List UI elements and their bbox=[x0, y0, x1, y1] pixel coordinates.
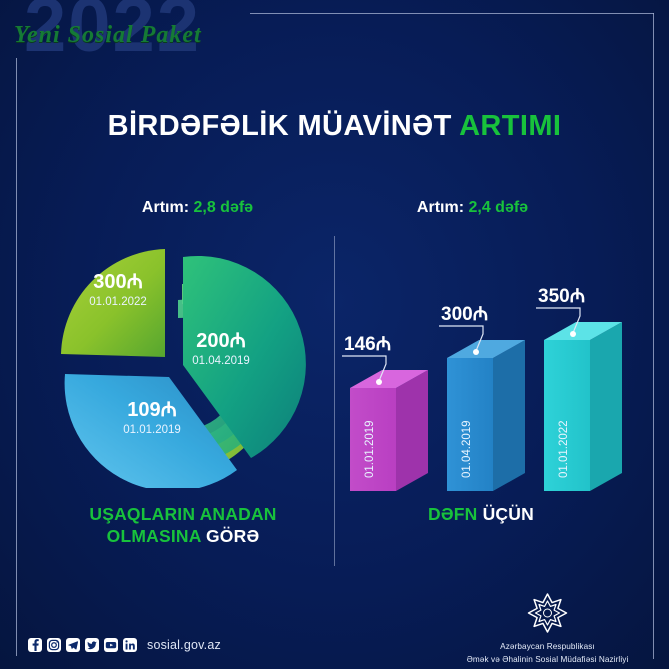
pie-chart-svg: 300₼ 01.01.2022 200₼ 01.04.2019 109₼ 01.… bbox=[32, 238, 332, 488]
bar-146-side bbox=[396, 370, 428, 491]
telegram-icon[interactable] bbox=[66, 638, 80, 652]
website-url[interactable]: sosial.gov.az bbox=[147, 638, 221, 652]
bar-column-300[interactable]: 300₼ 01.04.2019 bbox=[439, 304, 525, 491]
pie-slice-109-value: 109₼ bbox=[127, 399, 177, 421]
right-chart-caption: DƏFN ÜÇÜN bbox=[340, 503, 622, 525]
bar-chart-svg: 146₼ 01.01.2019 300₼ 01.04.2019 35 bbox=[338, 278, 658, 493]
ministry-logo-block: Azərbaycan Respublikası Əmək və Əhalinin… bbox=[455, 592, 640, 665]
growth-label-left: Artım: 2,8 dəfə bbox=[60, 199, 335, 217]
pie-slice-300[interactable]: 300₼ 01.01.2022 bbox=[61, 249, 165, 357]
page-title-accent: ARTIMI bbox=[459, 110, 561, 142]
growth-label-right-text: Artım: bbox=[417, 199, 464, 216]
ministry-star-icon bbox=[455, 592, 640, 634]
bar-350-value: 350₼ bbox=[538, 286, 585, 307]
growth-value-right: 2,4 dəfə bbox=[468, 199, 528, 216]
infographic-canvas: 2022 Yeni Sosial Paket BİRDƏFƏLİK MÜAVİN… bbox=[0, 0, 669, 669]
frame-line-left bbox=[16, 58, 17, 656]
bar-146-value: 146₼ bbox=[344, 334, 391, 355]
right-caption-green: DƏFN bbox=[428, 504, 477, 524]
bar-146-date: 01.01.2019 bbox=[364, 420, 376, 478]
ministry-line-2: Əmək və Əhalinin Sosial Müdafiəsi Nazirl… bbox=[455, 654, 640, 665]
bar-column-146[interactable]: 146₼ 01.01.2019 bbox=[342, 334, 428, 491]
pie-slice-300-value: 300₼ bbox=[93, 271, 143, 293]
right-caption-white: ÜÇÜN bbox=[483, 504, 534, 524]
bar-chart: 146₼ 01.01.2019 300₼ 01.04.2019 35 bbox=[338, 278, 658, 493]
pie-slice-200-value: 200₼ bbox=[196, 330, 246, 352]
growth-label-left-text: Artım: bbox=[142, 199, 189, 216]
ministry-line-1: Azərbaycan Respublikası bbox=[455, 641, 640, 652]
bar-350-side bbox=[590, 322, 622, 491]
footer-social-bar: sosial.gov.az bbox=[28, 638, 221, 652]
panel-divider-line bbox=[334, 236, 335, 566]
bar-column-350[interactable]: 350₼ 01.01.2022 bbox=[536, 286, 622, 491]
pie-slice-300-date: 01.01.2022 bbox=[89, 296, 147, 308]
facebook-icon[interactable] bbox=[28, 638, 42, 652]
bar-350-date: 01.01.2022 bbox=[558, 420, 570, 478]
twitter-icon[interactable] bbox=[85, 638, 99, 652]
growth-value-left: 2,8 dəfə bbox=[193, 199, 253, 216]
instagram-icon[interactable] bbox=[47, 638, 61, 652]
linkedin-icon[interactable] bbox=[123, 638, 137, 652]
growth-label-right: Artım: 2,4 dəfə bbox=[335, 199, 610, 217]
pie-chart: 300₼ 01.01.2022 200₼ 01.04.2019 109₼ 01.… bbox=[32, 238, 332, 488]
pie-slice-109-date: 01.01.2019 bbox=[123, 424, 181, 436]
bar-350-leader-dot bbox=[570, 331, 576, 337]
bar-300-date: 01.04.2019 bbox=[461, 420, 473, 478]
left-caption-white: GÖRƏ bbox=[206, 526, 259, 546]
youtube-icon[interactable] bbox=[104, 638, 118, 652]
bar-146-leader-dot bbox=[376, 379, 382, 385]
pie-slice-200-date: 01.04.2019 bbox=[192, 355, 250, 367]
left-chart-caption: UŞAQLARIN ANADAN OLMASINA GÖRƏ bbox=[42, 503, 324, 548]
bar-300-leader-dot bbox=[473, 349, 479, 355]
bar-300-value: 300₼ bbox=[441, 304, 488, 325]
frame-line-top bbox=[250, 13, 654, 14]
brand-title: Yeni Sosial Paket bbox=[14, 22, 202, 49]
page-title-main: BİRDƏFƏLİK MÜAVİNƏT bbox=[108, 110, 452, 142]
page-title: BİRDƏFƏLİK MÜAVİNƏT ARTIMI bbox=[0, 110, 669, 143]
bar-300-side bbox=[493, 340, 525, 491]
